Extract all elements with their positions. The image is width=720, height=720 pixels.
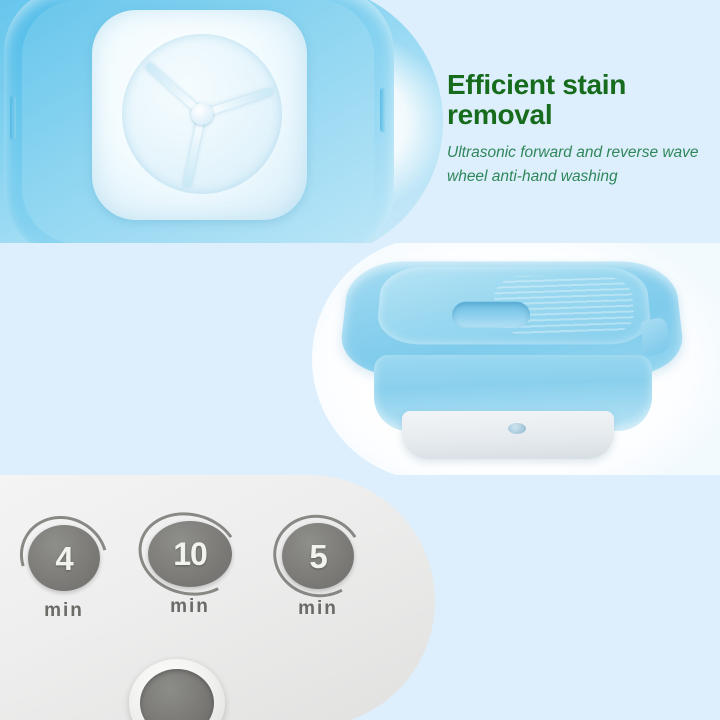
panel-timing: 4 min 10 min 5 min bbox=[0, 475, 720, 720]
timer-arc-icon bbox=[264, 505, 371, 606]
unit-base bbox=[402, 411, 614, 459]
timer-arc-icon bbox=[5, 500, 124, 616]
feature-text-efficient-stain-removal: Efficient stain removal Ultrasonic forwa… bbox=[447, 70, 712, 190]
washing-tub-interior-photo bbox=[0, 0, 443, 243]
lid-handle bbox=[452, 302, 531, 328]
product-infographic: Efficient stain removal Ultrasonic forwa… bbox=[0, 0, 720, 720]
timer-unit-label: min bbox=[136, 596, 244, 618]
panel-efficient-stain-removal: Efficient stain removal Ultrasonic forwa… bbox=[0, 0, 720, 243]
tub-basin bbox=[92, 10, 307, 220]
power-button[interactable] bbox=[129, 659, 225, 720]
control-panel-photo: 4 min 10 min 5 min bbox=[0, 475, 435, 720]
timer-unit-label: min bbox=[264, 598, 372, 620]
tub-hinge-left bbox=[10, 96, 16, 140]
timer-knob[interactable]: 5 bbox=[282, 523, 354, 589]
timer-unit-label: min bbox=[10, 600, 118, 622]
timer-button-row: 4 min 10 min 5 min bbox=[10, 521, 380, 631]
feature-description: Ultrasonic forward and reverse wave whee… bbox=[447, 141, 712, 189]
timer-button-10min[interactable]: 10 min bbox=[136, 521, 244, 618]
timer-button-4min[interactable]: 4 min bbox=[10, 525, 118, 622]
timer-knob[interactable]: 4 bbox=[28, 525, 100, 591]
impeller-hub bbox=[191, 103, 213, 125]
folded-washing-machine-photo bbox=[312, 243, 720, 475]
base-drain-plug-icon bbox=[508, 423, 526, 434]
wave-wheel-impeller-icon bbox=[122, 34, 282, 194]
panel-foldable: Foldable Travel, easy to put into the su… bbox=[0, 243, 720, 475]
power-button-face bbox=[140, 669, 214, 720]
lid-clip bbox=[640, 316, 669, 357]
feature-heading: Efficient stain removal bbox=[447, 70, 712, 130]
timer-button-5min[interactable]: 5 min bbox=[264, 523, 372, 620]
tub-hinge-right bbox=[380, 88, 386, 132]
folded-unit bbox=[340, 251, 690, 465]
timer-knob[interactable]: 10 bbox=[148, 521, 232, 587]
timer-arc-icon bbox=[130, 502, 249, 606]
